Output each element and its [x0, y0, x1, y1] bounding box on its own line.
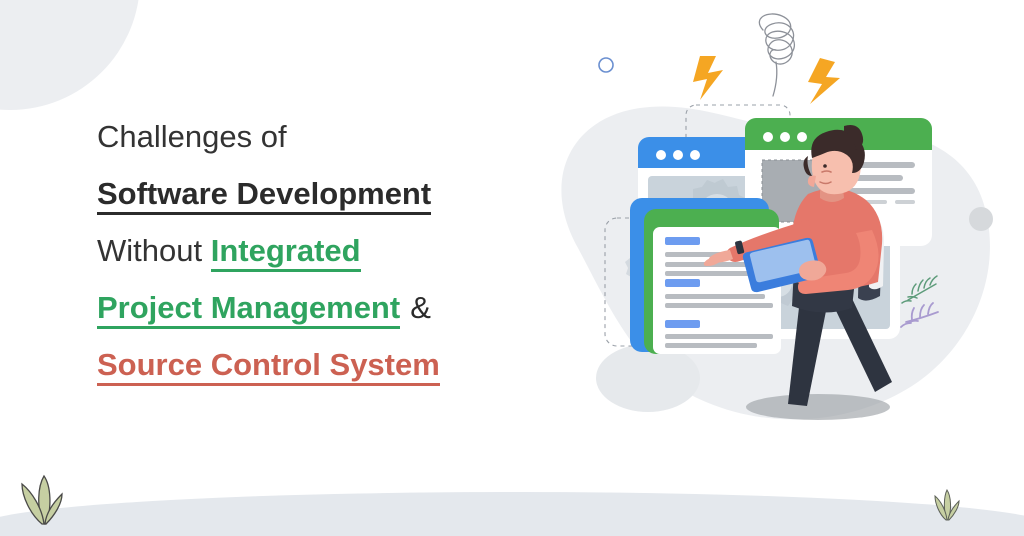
- headline-text-source-control-system: Source Control System: [97, 347, 440, 386]
- sage-leaf-cluster-right: [930, 482, 964, 524]
- headline-line-5: Source Control System: [97, 336, 527, 393]
- headline-text-without: Without: [97, 233, 211, 268]
- lightning-bolt-left: [693, 56, 723, 100]
- blue-circle-outline: [599, 58, 613, 72]
- headline-block: Challenges of Software Development Witho…: [97, 108, 527, 393]
- headline-line-3: Without Integrated: [97, 222, 527, 279]
- scribble-doodle: [759, 14, 794, 96]
- gray-filled-circle: [969, 207, 993, 231]
- corner-arc-decoration: [0, 0, 140, 110]
- hero-illustration: [520, 0, 1024, 536]
- headline-line-1: Challenges of: [97, 108, 527, 165]
- headline-text-software-development: Software Development: [97, 176, 431, 215]
- headline-text-project-management: Project Management: [97, 290, 400, 329]
- banner-canvas: Challenges of Software Development Witho…: [0, 0, 1024, 536]
- headline-text-ampersand: &: [410, 290, 431, 325]
- headline-text-challenges: Challenges of: [97, 119, 287, 154]
- headline-line-2: Software Development: [97, 165, 527, 222]
- headline-line-4: Project Management&: [97, 279, 527, 336]
- headline-text-integrated: Integrated: [211, 233, 361, 272]
- sage-leaf-cluster-left: [14, 460, 74, 530]
- lightning-bolt-right: [808, 58, 840, 104]
